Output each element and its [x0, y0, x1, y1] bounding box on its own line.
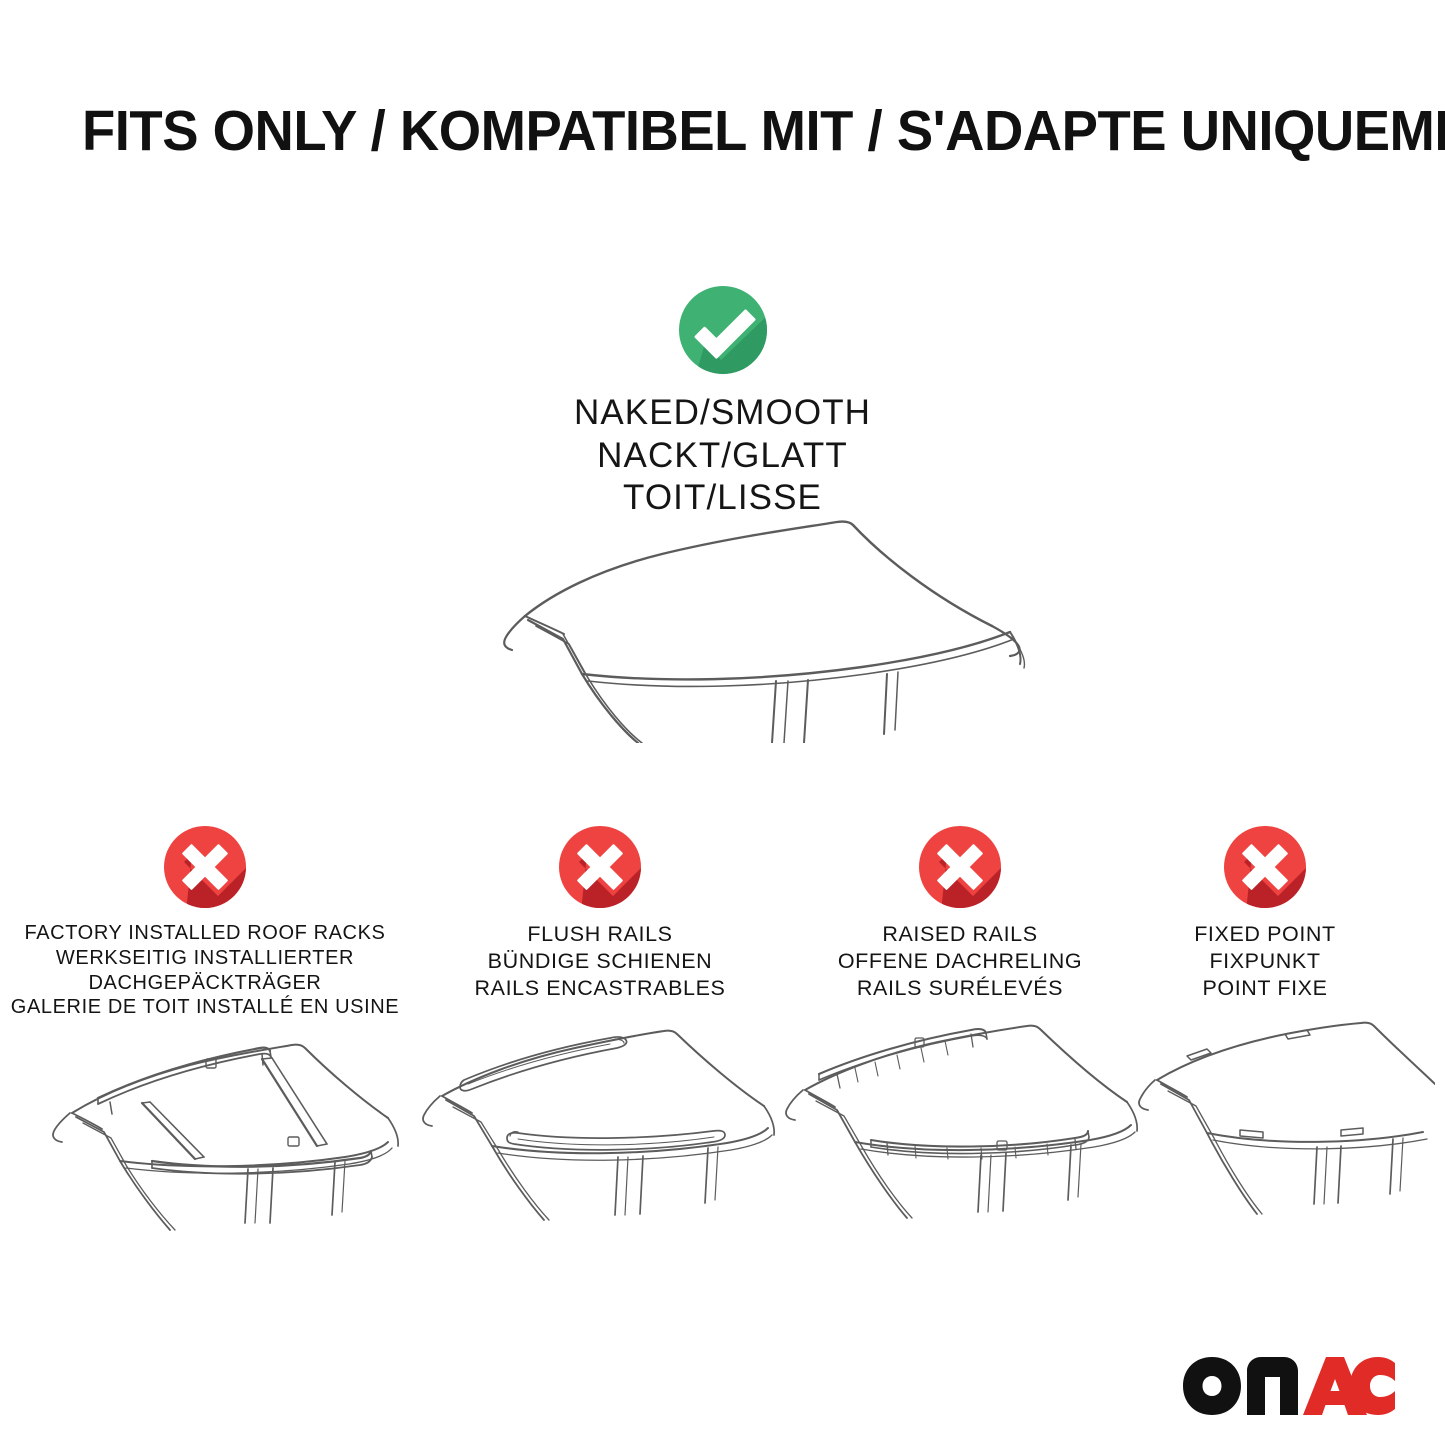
not-compatible-caption: FACTORY INSTALLED ROOF RACKS WERKSEITIG …	[10, 921, 400, 1020]
not-compatible-item-raised-rails: RAISED RAILS OFFENE DACHRELING RAILS SUR…	[785, 822, 1135, 1002]
omac-logo-mark	[1181, 1355, 1397, 1417]
infographic-page: FITS ONLY / KOMPATIBEL MIT / S'ADAPTE UN…	[0, 0, 1445, 1445]
check-circle-icon	[675, 282, 771, 378]
car-roof-factory-roof-racks-illustration	[30, 1018, 410, 1258]
not-compatible-item-fixed-point: FIXED POINT FIXPUNKT POINT FIXE	[1120, 822, 1410, 1002]
compatible-caption-line-1: NAKED/SMOOTH	[0, 392, 1445, 435]
caption-line-2: FIXPUNKT	[1120, 948, 1410, 975]
not-compatible-caption: RAISED RAILS OFFENE DACHRELING RAILS SUR…	[785, 921, 1135, 1002]
not-compatible-item-flush-rails: FLUSH RAILS BÜNDIGE SCHIENEN RAILS ENCAS…	[425, 822, 775, 1002]
compatible-caption-line-2: NACKT/GLATT	[0, 435, 1445, 478]
caption-line-3: DACHGEPÄCKTRÄGER	[10, 971, 400, 996]
x-circle-icon	[160, 822, 250, 912]
x-circle-icon	[915, 822, 1005, 912]
caption-line-3: RAILS ENCASTRABLES	[425, 975, 775, 1002]
caption-line-1: FACTORY INSTALLED ROOF RACKS	[10, 921, 400, 946]
caption-line-1: FLUSH RAILS	[425, 921, 775, 948]
compatible-section: NAKED/SMOOTH NACKT/GLATT TOIT/LISSE	[0, 282, 1445, 520]
not-compatible-caption: FLUSH RAILS BÜNDIGE SCHIENEN RAILS ENCAS…	[425, 921, 775, 1002]
caption-line-1: RAISED RAILS	[785, 921, 1135, 948]
not-compatible-caption: FIXED POINT FIXPUNKT POINT FIXE	[1120, 921, 1410, 1002]
car-roof-fixed-point-illustration	[1135, 1018, 1435, 1258]
caption-line-2: WERKSEITIG INSTALLIERTER	[10, 946, 400, 971]
x-circle-icon	[1220, 822, 1310, 912]
caption-line-4: GALERIE DE TOIT INSTALLÉ EN USINE	[10, 995, 400, 1020]
not-compatible-item-factory-racks: FACTORY INSTALLED ROOF RACKS WERKSEITIG …	[10, 822, 400, 1020]
caption-line-1: FIXED POINT	[1120, 921, 1410, 948]
caption-line-2: OFFENE DACHRELING	[785, 948, 1135, 975]
caption-line-2: BÜNDIGE SCHIENEN	[425, 948, 775, 975]
car-roof-raised-rails-illustration	[775, 1018, 1155, 1258]
omac-logo	[1181, 1355, 1397, 1417]
caption-line-3: RAILS SURÉLEVÉS	[785, 975, 1135, 1002]
illustration-row	[0, 1018, 1445, 1253]
caption-line-3: POINT FIXE	[1120, 975, 1410, 1002]
page-title: FITS ONLY / KOMPATIBEL MIT / S'ADAPTE UN…	[82, 103, 1314, 160]
car-roof-bare-smooth-illustration	[432, 498, 1052, 743]
car-roof-flush-rails-illustration	[412, 1018, 792, 1258]
x-circle-icon	[555, 822, 645, 912]
